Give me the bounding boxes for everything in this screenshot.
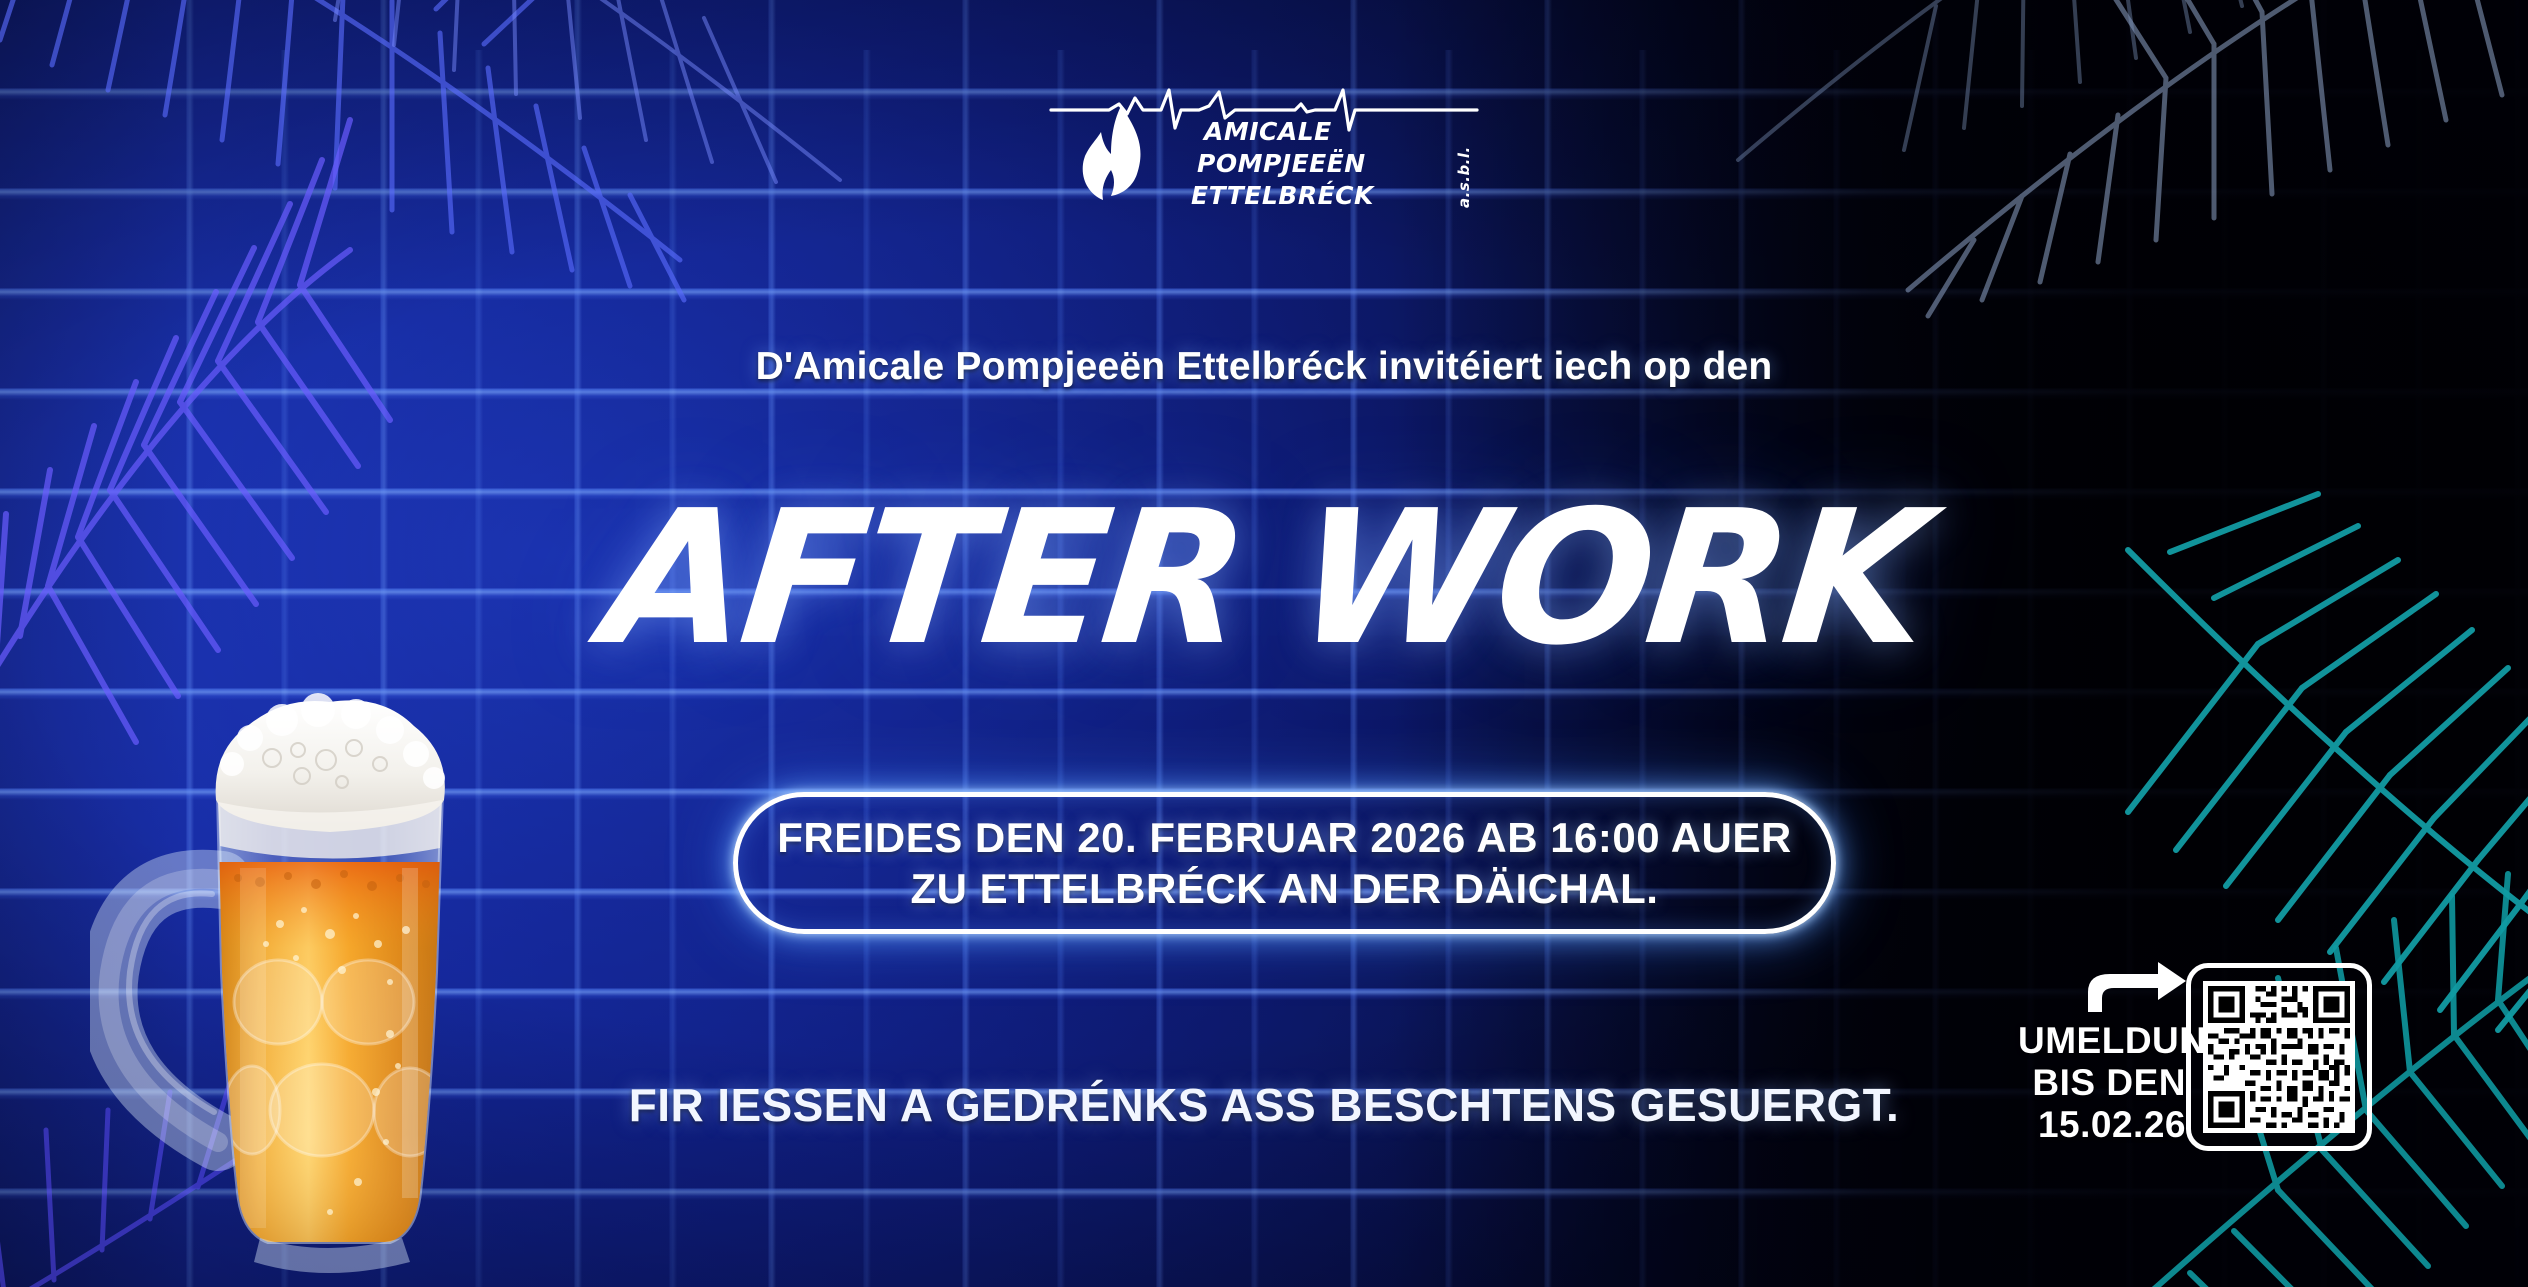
intro-text: D'Amicale Pompjeeën Ettelbréck invitéier… — [0, 345, 2528, 389]
event-date-banner: FREIDES DEN 20. FEBRUAR 2026 AB 16:00 AU… — [733, 792, 1836, 934]
logo-line-3: ETTELBRÉCK — [1191, 181, 1375, 210]
registration-line-2: BIS DEN — [2018, 1062, 2186, 1104]
logo-line-1: AMICALE — [1202, 117, 1332, 146]
logo-line-2: POMPJEEËN — [1197, 148, 1366, 178]
registration-line-1: UMELDUNG — [2018, 1020, 2186, 1062]
page-title: AFTER WORK — [0, 486, 2528, 671]
registration-deadline-date: 15.02.26 — [2018, 1104, 2186, 1146]
qr-code-frame[interactable] — [2186, 963, 2372, 1151]
event-datetime-line: FREIDES DEN 20. FEBRUAR 2026 AB 16:00 AU… — [777, 812, 1792, 863]
beer-mug-icon — [90, 672, 510, 1287]
beer-foam — [216, 693, 445, 859]
qr-code-icon[interactable] — [2203, 981, 2355, 1133]
amicale-logo: AMICALE POMPJEEËN ETTELBRÉCK a.s.b.l. — [1049, 88, 1479, 228]
curved-arrow-right-icon — [2080, 958, 2190, 1020]
event-location-line: ZU ETTELBRÉCK AN DER DÄICHAL. — [911, 863, 1659, 914]
beer-liquid — [218, 862, 446, 1252]
flame-icon — [1083, 106, 1141, 200]
poster-canvas: AMICALE POMPJEEËN ETTELBRÉCK a.s.b.l. D'… — [0, 0, 2528, 1287]
mug-handle — [109, 879, 222, 1142]
logo-suffix: a.s.b.l. — [1455, 146, 1473, 208]
registration-block: UMELDUNG BIS DEN 15.02.26 — [2018, 958, 2378, 1158]
registration-text: UMELDUNG BIS DEN 15.02.26 — [2018, 1020, 2186, 1145]
